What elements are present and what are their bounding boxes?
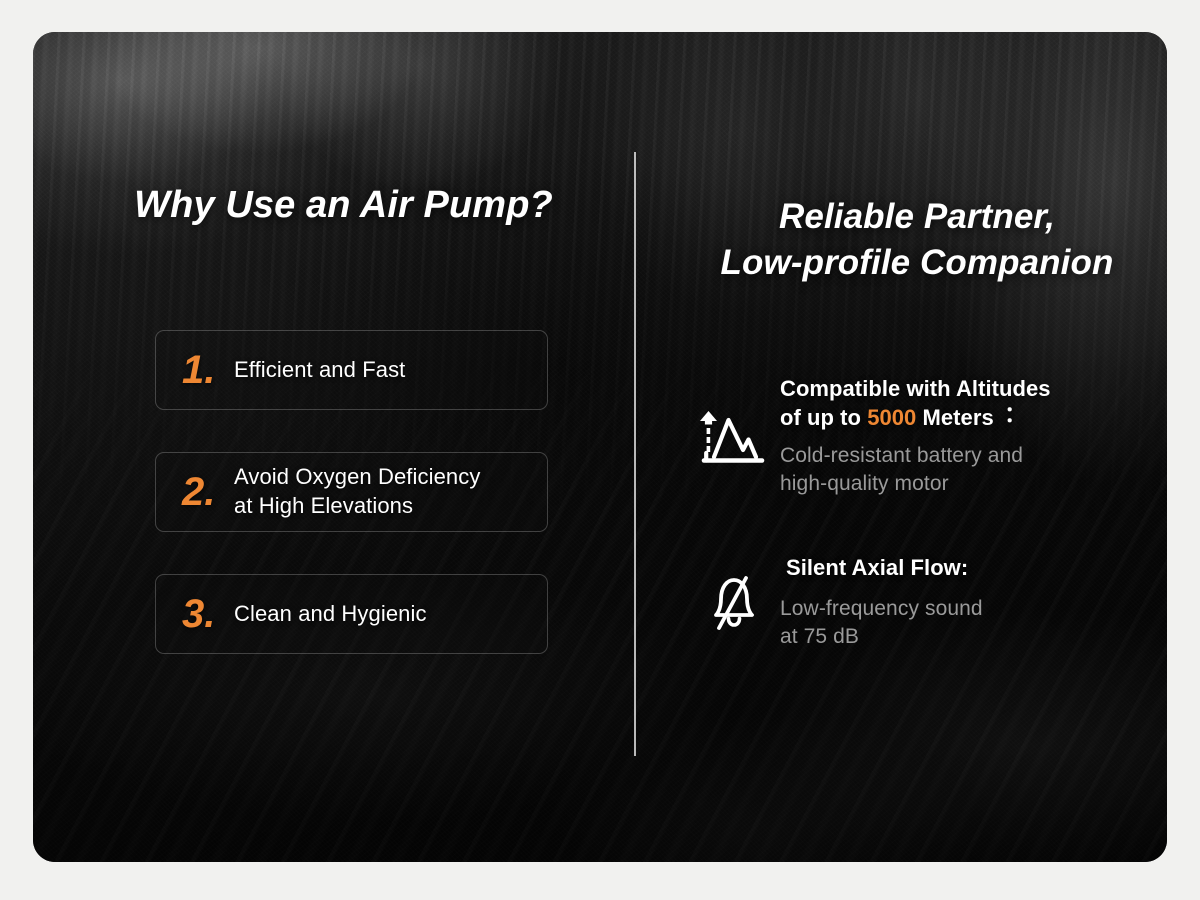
feature-title-highlight: 5000	[867, 405, 916, 430]
right-column: Reliable Partner,Low-profile Companion	[634, 32, 1167, 862]
feature-card: Why Use an Air Pump? 1. Efficient and Fa…	[33, 32, 1167, 862]
feature-description: Low-frequency soundat 75 dB	[780, 595, 1167, 651]
feature-title: Silent Axial Flow:	[780, 554, 1167, 583]
numbered-benefit-list: 1. Efficient and Fast 2. Avoid Oxygen De…	[155, 330, 548, 654]
item-number-badge: 1.	[182, 350, 234, 390]
feature-description: Cold-resistant battery andhigh-quality m…	[780, 442, 1167, 498]
bell-muted-icon	[696, 554, 780, 638]
feature-item-altitude[interactable]: Compatible with Altitudesof up to 5000 M…	[696, 375, 1167, 498]
left-column: Why Use an Air Pump? 1. Efficient and Fa…	[66, 32, 621, 862]
list-item[interactable]: 2. Avoid Oxygen Deficiencyat High Elevat…	[155, 452, 548, 532]
feature-body: Compatible with Altitudesof up to 5000 M…	[780, 375, 1167, 498]
item-label: Efficient and Fast	[234, 356, 405, 385]
mountain-altitude-icon	[696, 375, 780, 469]
feature-title-after: Meters︓	[916, 405, 1015, 430]
feature-item-silent[interactable]: Silent Axial Flow: Low-frequency soundat…	[696, 554, 1167, 650]
feature-body: Silent Axial Flow: Low-frequency soundat…	[780, 554, 1167, 650]
card-content: Why Use an Air Pump? 1. Efficient and Fa…	[33, 32, 1167, 862]
item-number-badge: 3.	[182, 594, 234, 634]
feature-title-before: Silent Axial Flow:	[786, 555, 968, 580]
feature-list: Compatible with Altitudesof up to 5000 M…	[696, 375, 1167, 650]
list-item[interactable]: 1. Efficient and Fast	[155, 330, 548, 410]
item-number-badge: 2.	[182, 472, 234, 512]
feature-title: Compatible with Altitudesof up to 5000 M…	[780, 375, 1167, 432]
item-label: Clean and Hygienic	[234, 600, 427, 629]
list-item[interactable]: 3. Clean and Hygienic	[155, 574, 548, 654]
left-heading: Why Use an Air Pump?	[66, 184, 621, 227]
item-label: Avoid Oxygen Deficiencyat High Elevation…	[234, 463, 480, 520]
right-heading: Reliable Partner,Low-profile Companion	[634, 194, 1167, 285]
